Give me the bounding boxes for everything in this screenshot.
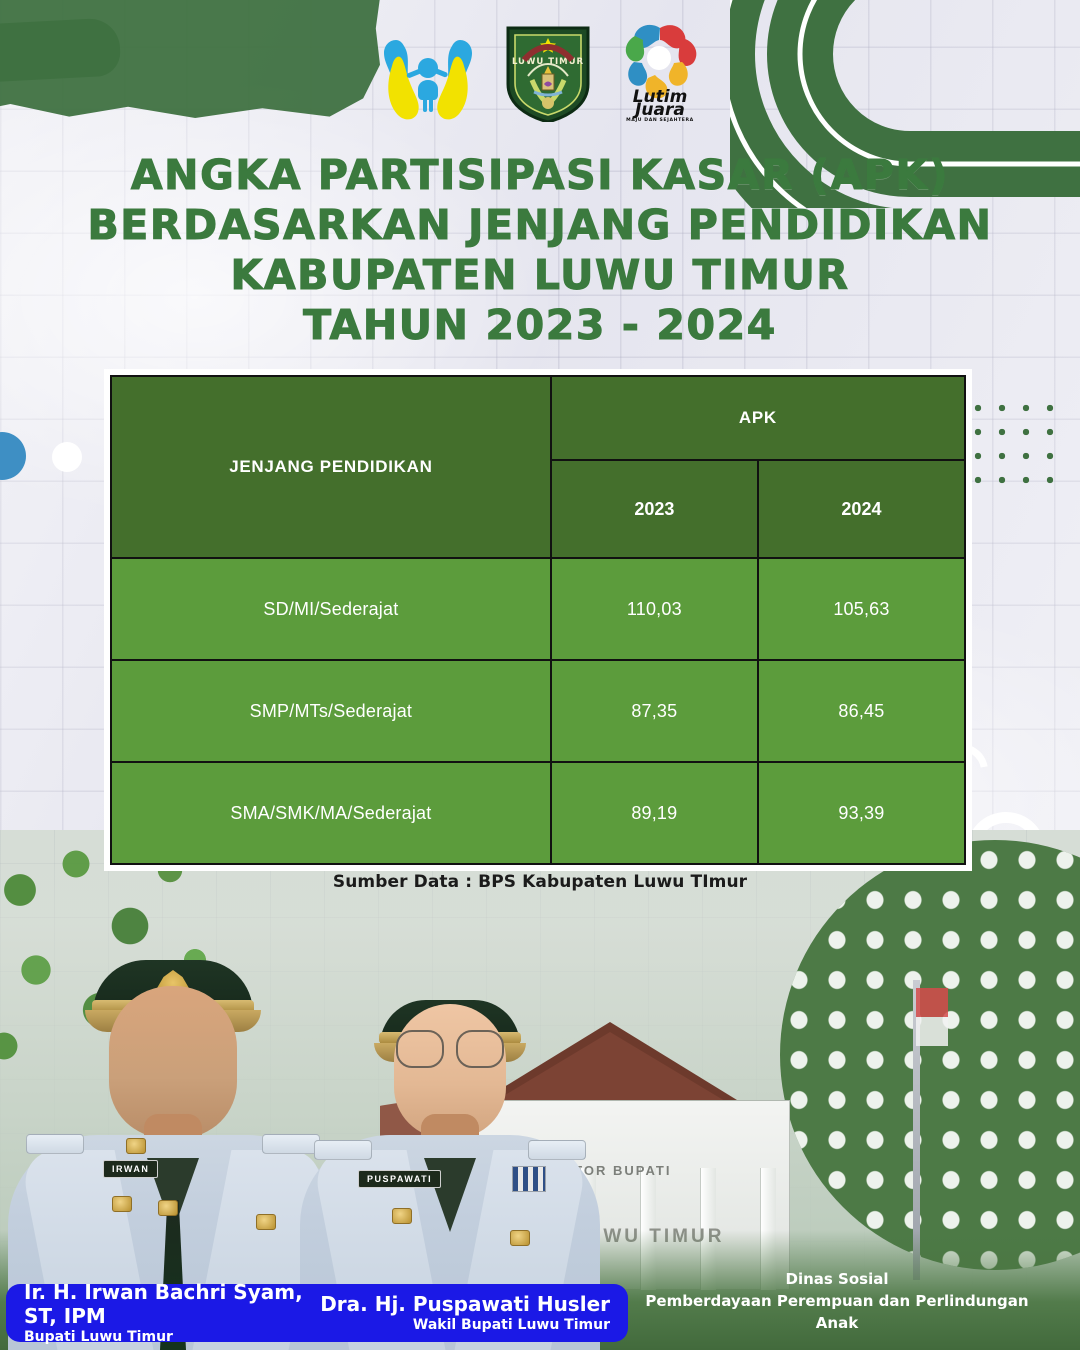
child-protection-logo	[372, 18, 484, 122]
luwu-timur-coat-of-arms: LUWU TIMUR	[502, 18, 594, 122]
header-year-2023: 2023	[551, 460, 758, 558]
bupati-role: Bupati Luwu Timur	[24, 1328, 317, 1346]
title-line-3: KABUPATEN LUWU TIMUR	[0, 250, 1080, 300]
uniform-pin-b	[510, 1230, 530, 1246]
header-jenjang-pendidikan: JENJANG PENDIDIKAN	[111, 376, 551, 558]
cell-apk-2024: 93,39	[758, 762, 965, 864]
wakil-bupati-role: Wakil Bupati Luwu Timur	[317, 1316, 610, 1334]
uniform-pin-b	[112, 1196, 132, 1212]
table-row: SMA/SMK/MA/Sederajat 89,19 93,39	[111, 762, 965, 864]
title-line-2: BERDASARKAN JENJANG PENDIDIKAN	[0, 200, 1080, 250]
cell-apk-2024: 86,45	[758, 660, 965, 762]
bupati-name-block: Ir. H. Irwan Bachri Syam, ST, IPM Bupati…	[6, 1280, 317, 1346]
epaulet-left	[314, 1140, 372, 1160]
epaulet-left	[26, 1134, 84, 1154]
uniform-pin-c	[158, 1200, 178, 1216]
table-row: SMP/MTs/Sederajat 87,35 86,45	[111, 660, 965, 762]
infographic-poster: LUWU TIMUR Lutim	[0, 0, 1080, 1350]
dot-grid-decoration	[962, 392, 1062, 484]
official-nametag: PUSPAWATI	[358, 1170, 441, 1188]
cell-apk-2024: 105,63	[758, 558, 965, 660]
apk-table: JENJANG PENDIDIKAN APK 2023 2024 SD/MI/S…	[110, 375, 966, 865]
table-header-row-1: JENJANG PENDIDIKAN APK	[111, 376, 965, 460]
officials-name-banner: Ir. H. Irwan Bachri Syam, ST, IPM Bupati…	[6, 1284, 628, 1342]
table-row: SD/MI/Sederajat 110,03 105,63	[111, 558, 965, 660]
cell-jenjang: SMA/SMK/MA/Sederajat	[111, 762, 551, 864]
indonesian-flag	[916, 988, 948, 1046]
uniform-pin-d	[256, 1214, 276, 1230]
wakil-bupati-name: Dra. Hj. Puspawati Husler	[317, 1292, 610, 1316]
agency-line-2: Pemberdayaan Perempuan dan Perlindungan …	[622, 1290, 1052, 1334]
white-circle-decoration	[52, 442, 82, 472]
header-year-2024: 2024	[758, 460, 965, 558]
svg-text:MAJU DAN SEJAHTERA: MAJU DAN SEJAHTERA	[626, 117, 694, 122]
agency-line-1: Dinas Sosial	[622, 1268, 1052, 1290]
source-note: Sumber Data : BPS Kabupaten Luwu TImur	[0, 872, 1080, 892]
cell-apk-2023: 87,35	[551, 660, 758, 762]
agency-credit: Dinas Sosial Pemberdayaan Perempuan dan …	[622, 1268, 1052, 1334]
svg-text:Juara: Juara	[632, 100, 685, 120]
eyeglasses-icon	[396, 1030, 504, 1064]
uniform-pin-a	[392, 1208, 412, 1224]
title-line-4: TAHUN 2023 - 2024	[0, 300, 1080, 350]
official-nametag: IRWAN	[103, 1160, 158, 1178]
cell-apk-2023: 110,03	[551, 558, 758, 660]
uniform-pin-a	[126, 1138, 146, 1154]
header-apk-group: APK	[551, 376, 965, 460]
service-medals	[512, 1166, 546, 1192]
cell-jenjang: SD/MI/Sederajat	[111, 558, 551, 660]
bupati-name: Ir. H. Irwan Bachri Syam, ST, IPM	[24, 1280, 317, 1328]
logo-row: LUWU TIMUR Lutim	[0, 18, 1080, 122]
lutim-juara-logo: Lutim Juara MAJU DAN SEJAHTERA	[612, 18, 708, 122]
wakil-bupati-name-block: Dra. Hj. Puspawati Husler Wakil Bupati L…	[317, 1292, 628, 1334]
cell-apk-2023: 89,19	[551, 762, 758, 864]
poster-title: ANGKA PARTISIPASI KASAR (APK) BERDASARKA…	[0, 150, 1080, 350]
cell-jenjang: SMP/MTs/Sederajat	[111, 660, 551, 762]
apk-table-frame: JENJANG PENDIDIKAN APK 2023 2024 SD/MI/S…	[104, 369, 972, 871]
epaulet-right	[528, 1140, 586, 1160]
title-line-1: ANGKA PARTISIPASI KASAR (APK)	[0, 150, 1080, 200]
